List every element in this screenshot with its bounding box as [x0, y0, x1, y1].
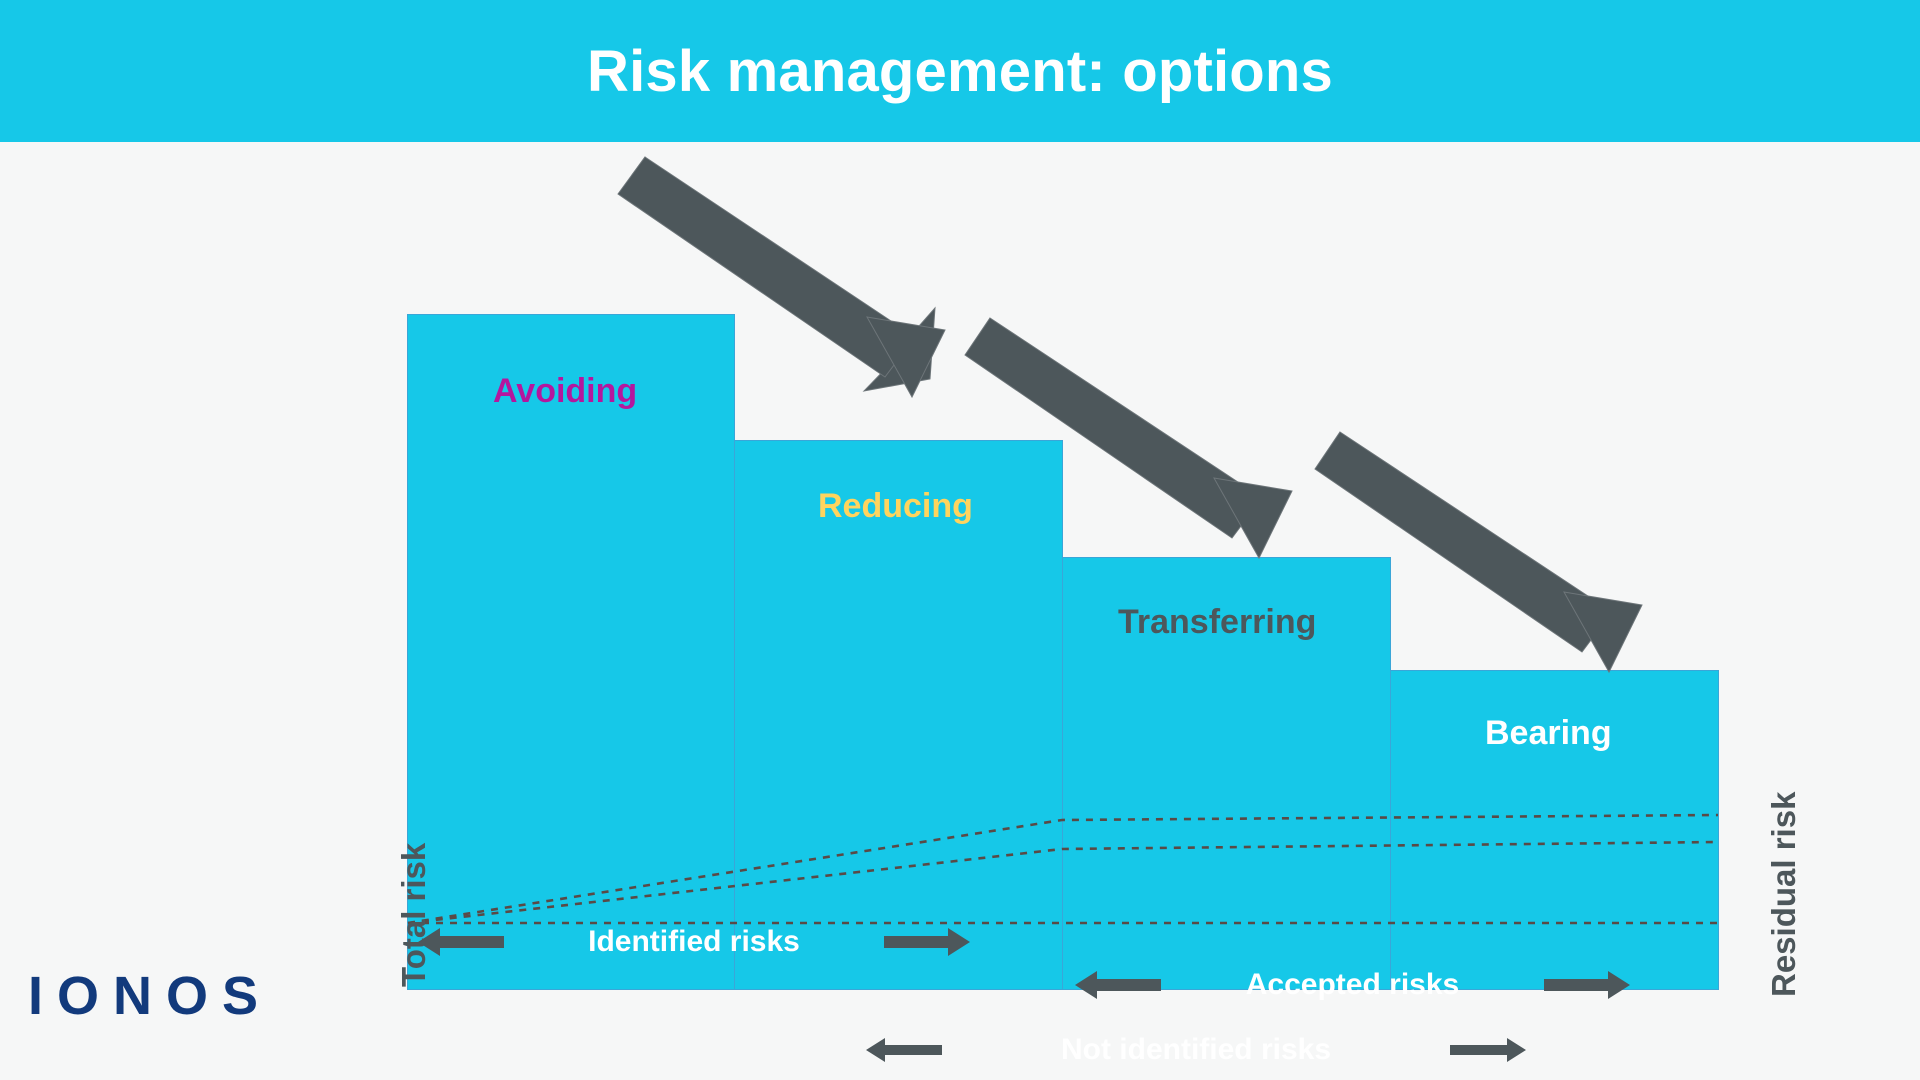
risk-band-accepted: Accepted risks	[1075, 965, 1630, 1005]
arrow-left-icon-accepted	[1075, 970, 1161, 1000]
arrow-right-icon-not-identified	[1450, 1037, 1526, 1063]
bar-label-bearing: Bearing	[1485, 714, 1612, 753]
axis-label-total-risk: Total risk	[395, 843, 433, 987]
risk-band-label-accepted: Accepted risks	[1246, 968, 1459, 1002]
arrow-left-glyph	[1075, 970, 1161, 1000]
bar-label-avoiding: Avoiding	[493, 372, 637, 411]
arrow-left-glyph	[866, 1037, 942, 1063]
risk-band-identified: Identified risks	[418, 922, 970, 962]
arrow-right-glyph	[884, 927, 970, 957]
risk-band-not-identified: Not identified risks	[866, 1030, 1526, 1070]
arrow-right-icon-identified	[884, 927, 970, 957]
ionos-logo: IONOS	[28, 965, 272, 1027]
arrow-right-glyph	[1544, 970, 1630, 1000]
bar-label-transferring: Transferring	[1118, 603, 1316, 642]
bar-label-reducing: Reducing	[818, 487, 973, 526]
header-band: Risk management: options	[0, 0, 1920, 142]
risk-band-label-not-identified: Not identified risks	[1061, 1033, 1331, 1067]
axis-label-residual-risk: Residual risk	[1765, 792, 1803, 997]
arrow-right-icon-accepted	[1544, 970, 1630, 1000]
chart-stage: Avoiding Reducing Transferring Bearing	[0, 142, 1920, 1080]
bar-avoiding	[407, 314, 735, 990]
page-title: Risk management: options	[0, 0, 1920, 142]
risk-band-label-identified: Identified risks	[588, 925, 800, 959]
arrow-right-glyph	[1450, 1037, 1526, 1063]
arrow-left-icon-not-identified	[866, 1037, 942, 1063]
